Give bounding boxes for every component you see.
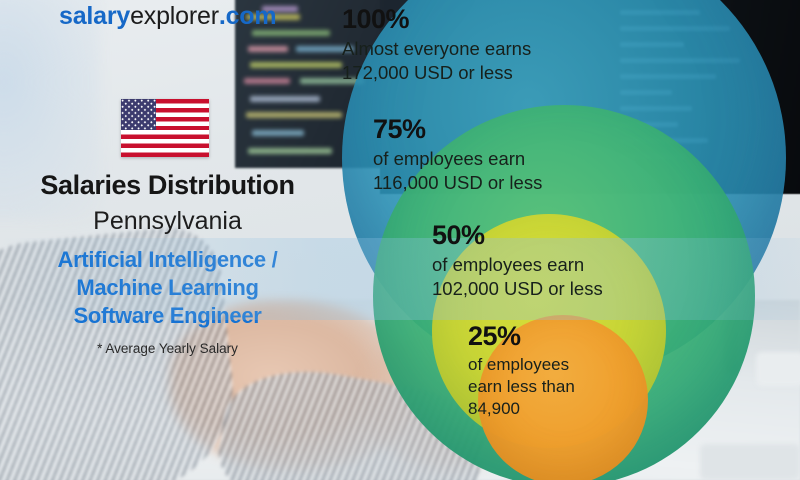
job-title-line-1: Artificial Intelligence /: [0, 246, 335, 274]
footnote: * Average Yearly Salary: [0, 341, 335, 356]
flag-canton: [121, 99, 156, 130]
tier-label-50: 50% of employees earn 102,000 USD or les…: [432, 222, 666, 300]
job-title: Artificial Intelligence / Machine Learni…: [0, 246, 335, 330]
tier-line1-100: Almost everyone earns: [342, 37, 786, 61]
logo-text-salary: salary: [59, 2, 130, 30]
tier-line3-25: 84,900: [468, 398, 658, 420]
tier-percent-50: 50%: [432, 222, 666, 249]
tier-percent-75: 75%: [373, 116, 755, 143]
flag-stars: [121, 99, 156, 130]
tier-line2-25: earn less than: [468, 376, 658, 398]
site-logo[interactable]: salaryexplorer.com: [59, 2, 276, 31]
logo-text-domain: .com: [219, 2, 277, 30]
region-subtitle: Pennsylvania: [0, 207, 335, 236]
tier-line2-75: 116,000 USD or less: [373, 171, 755, 195]
tier-percent-100: 100%: [342, 6, 786, 33]
tier-line1-50: of employees earn: [432, 253, 666, 277]
tier-line2-100: 172,000 USD or less: [342, 61, 786, 85]
tier-percent-25: 25%: [468, 323, 658, 350]
tier-description-50: of employees earn 102,000 USD or less: [432, 253, 666, 300]
tier-label-25: 25% of employees earn less than 84,900: [468, 323, 658, 419]
job-title-line-2: Machine Learning: [0, 274, 335, 302]
job-title-line-3: Software Engineer: [0, 302, 335, 330]
tier-description-100: Almost everyone earns 172,000 USD or les…: [342, 37, 786, 84]
logo-text-explorer: explorer: [130, 2, 219, 30]
tier-description-75: of employees earn 116,000 USD or less: [373, 147, 755, 194]
tier-label-75: 75% of employees earn 116,000 USD or les…: [373, 116, 755, 194]
tier-line1-75: of employees earn: [373, 147, 755, 171]
salary-distribution-infographic: salaryexplorer.com Salaries Distribution…: [0, 0, 800, 480]
tier-line2-50: 102,000 USD or less: [432, 277, 666, 301]
page-title: Salaries Distribution: [0, 170, 335, 201]
tier-label-100: 100% Almost everyone earns 172,000 USD o…: [342, 6, 786, 84]
tier-description-25: of employees earn less than 84,900: [468, 354, 658, 419]
tier-line1-25: of employees: [468, 354, 658, 376]
us-flag-icon: [121, 99, 209, 157]
